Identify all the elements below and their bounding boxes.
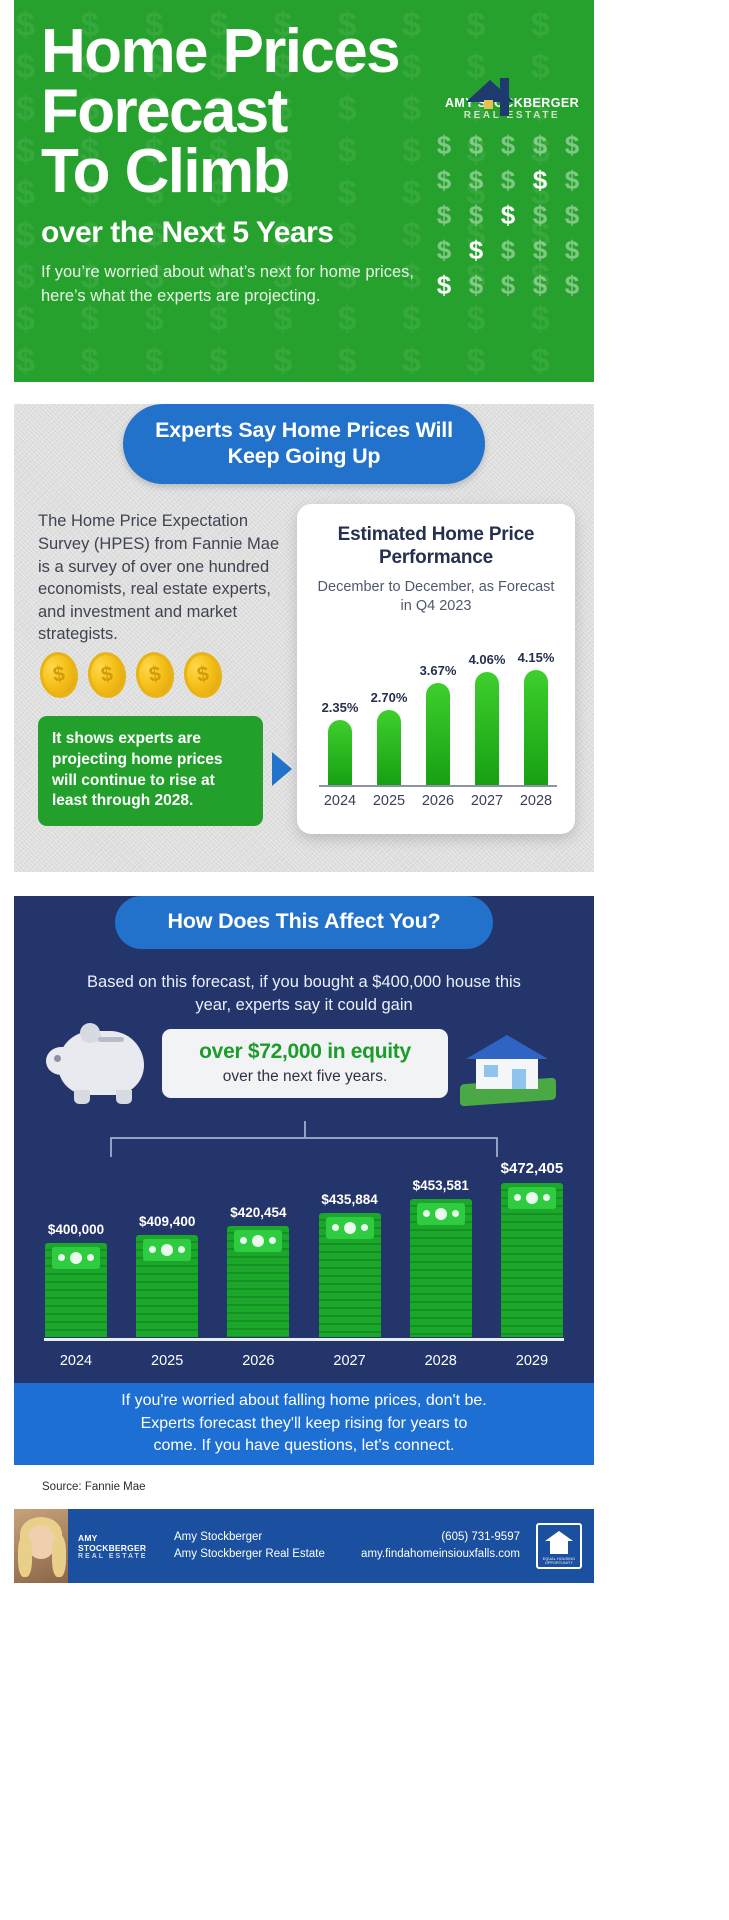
survey-headline-pill: Experts Say Home Prices Will Keep Going … [123, 404, 485, 484]
avatar-hair-right [52, 1535, 66, 1577]
equity-timeframe: over the next five years. [172, 1068, 438, 1086]
equity-bar [410, 1199, 472, 1337]
equity-bar-column: $472,405 [500, 1160, 564, 1337]
eho-body [550, 1541, 568, 1554]
dollar-bill-icon [326, 1217, 374, 1239]
chart-subtitle: December to December, as Forecast in Q4 … [311, 578, 561, 616]
equity-bar-column: $453,581 [409, 1178, 473, 1337]
equity-x-label: 2027 [318, 1353, 382, 1369]
chart-x-label: 2024 [321, 793, 359, 809]
header-section: $ $ $ $ $ $ $ $ $ $ $ $ $ $ $ $ $ $ $ $ … [14, 0, 594, 382]
footer-brand-logo: AMY STOCKBERGER REAL ESTATE [68, 1533, 160, 1560]
headline-subtitle: over the Next 5 Years [41, 216, 594, 249]
piggy-leg [74, 1090, 90, 1104]
piggy-bank-icon [58, 1031, 144, 1095]
equity-bar-column: $435,884 [318, 1192, 382, 1337]
footer-website[interactable]: amy.findahomeinsiouxfalls.com [361, 1546, 520, 1563]
chart-bar-value-label: 2.70% [371, 690, 408, 705]
coin-icon [37, 650, 81, 701]
cta-line-3: come. If you have questions, let's conne… [153, 1437, 454, 1454]
dollar-bill-icon [508, 1187, 556, 1209]
equity-bar-value-label: $400,000 [48, 1222, 104, 1237]
chart-bar [328, 720, 352, 785]
equity-chart-x-labels: 202420252026202720282029 [44, 1353, 564, 1369]
equity-bar [45, 1243, 107, 1337]
equity-x-label: 2025 [135, 1353, 199, 1369]
coin-icon [181, 650, 225, 701]
source-text: Source: Fannie Mae [14, 1481, 146, 1493]
equity-bar-column: $420,454 [226, 1205, 290, 1337]
chart-x-axis [319, 785, 557, 787]
chart-bar-value-label: 4.06% [469, 652, 506, 667]
dollar-bill-icon [52, 1247, 100, 1269]
chart-plot-area: 2.35%2.70%3.67%4.06%4.15% 20242025202620… [311, 632, 561, 807]
chart-bar-value-label: 4.15% [518, 650, 555, 665]
house-window [484, 1065, 498, 1077]
house-door [512, 1069, 526, 1089]
equity-chart-axis [44, 1338, 564, 1341]
logo-accent-icon [484, 100, 493, 109]
chart-bar-column: 3.67% [419, 663, 457, 785]
cta-line-2: Experts forecast they'll keep rising for… [141, 1415, 468, 1432]
equity-headline-pill: How Does This Affect You? [115, 896, 493, 949]
chart-bar [377, 710, 401, 785]
equity-bar-column: $400,000 [44, 1222, 108, 1337]
chart-bar-value-label: 2.35% [322, 700, 359, 715]
equity-x-label: 2028 [409, 1353, 473, 1369]
coin-icon [85, 650, 129, 701]
bracket-stem [304, 1121, 306, 1137]
equity-chart: $400,000$409,400$420,454$435,884$453,581… [44, 1161, 564, 1371]
chart-bar [524, 670, 548, 785]
eho-label: EQUAL HOUSING OPPORTUNITY [538, 1557, 580, 1565]
chart-title: Estimated Home Price Performance [311, 524, 561, 570]
equity-amount: over $72,000 in equity [172, 1040, 438, 1064]
chart-x-tick-labels: 20242025202620272028 [321, 793, 555, 809]
cta-band: If you're worried about falling home pri… [14, 1383, 594, 1465]
headline-line-1: Home Prices [41, 22, 594, 82]
footer-contact-block: (605) 731-9597 amy.findahomeinsiouxfalls… [361, 1529, 536, 1564]
dollar-bill-icon [143, 1239, 191, 1261]
chart-bar [426, 683, 450, 785]
chart-x-label: 2026 [419, 793, 457, 809]
connector-bracket [40, 1121, 568, 1157]
chart-bar [475, 672, 499, 785]
coin-stack-illustration [40, 652, 222, 698]
chart-bar-column: 2.35% [321, 700, 359, 785]
piggy-slot [98, 1037, 124, 1042]
equity-bar-value-label: $472,405 [501, 1160, 564, 1177]
equity-bar-value-label: $420,454 [230, 1205, 286, 1220]
equal-housing-opportunity-icon: EQUAL HOUSING OPPORTUNITY [536, 1523, 582, 1569]
bracket-left-tick [110, 1137, 112, 1157]
equity-bar [136, 1235, 198, 1337]
chart-bar-column: 2.70% [370, 690, 408, 785]
footer-phone[interactable]: (605) 731-9597 [361, 1529, 520, 1546]
cta-text: If you're worried about falling home pri… [121, 1390, 486, 1457]
footer-agent-block: Amy Stockberger Amy Stockberger Real Est… [160, 1529, 325, 1564]
chart-bar-value-label: 3.67% [420, 663, 457, 678]
survey-callout-box: It shows experts are projecting home pri… [38, 716, 263, 825]
bracket-right-tick [496, 1137, 498, 1157]
equity-section: How Does This Affect You? Based on this … [14, 896, 594, 1383]
equity-x-label: 2026 [226, 1353, 290, 1369]
eho-roof [545, 1531, 573, 1541]
piggy-leg [116, 1090, 132, 1104]
header-brand-logo: AMY STOCKBERGER REAL ESTATE [438, 96, 586, 142]
equity-bar-value-label: $453,581 [413, 1178, 469, 1193]
dollar-bill-icon [417, 1203, 465, 1225]
source-row: Source: Fannie Mae [14, 1465, 594, 1509]
survey-section: Experts Say Home Prices Will Keep Going … [14, 404, 594, 872]
house-roof [466, 1035, 548, 1059]
chart-bar-column: 4.06% [468, 652, 506, 785]
equity-bar-column: $409,400 [135, 1214, 199, 1337]
chart-x-label: 2028 [517, 793, 555, 809]
chart-bar-column: 4.15% [517, 650, 555, 785]
bracket-line [110, 1137, 498, 1139]
footer-agent-name: Amy Stockberger [174, 1529, 325, 1546]
equity-highlight-row: over $72,000 in equity over the next fiv… [14, 1029, 594, 1115]
logo-post-icon [500, 78, 509, 116]
footer-brand-name: AMY STOCKBERGER [78, 1533, 160, 1553]
chart-bars: 2.35%2.70%3.67%4.06%4.15% [321, 635, 555, 785]
equity-bar [319, 1213, 381, 1337]
headline-line-3: To Climb [41, 142, 594, 202]
coin-icon [133, 650, 177, 701]
equity-bar [227, 1226, 289, 1337]
equity-x-label: 2029 [500, 1353, 564, 1369]
agent-avatar [14, 1509, 68, 1583]
equity-bar-value-label: $409,400 [139, 1214, 195, 1229]
forecast-chart-card: Estimated Home Price Performance Decembe… [297, 504, 575, 834]
arrow-right-icon [272, 752, 292, 786]
equity-lead-text: Based on this forecast, if you bought a … [84, 971, 524, 1017]
equity-bar-value-label: $435,884 [321, 1192, 377, 1207]
cta-line-1: If you're worried about falling home pri… [121, 1392, 486, 1409]
chart-x-label: 2025 [370, 793, 408, 809]
avatar-hair-left [18, 1535, 32, 1577]
chart-x-label: 2027 [468, 793, 506, 809]
equity-bar [501, 1183, 563, 1337]
equity-x-label: 2024 [44, 1353, 108, 1369]
footer-company-name: Amy Stockberger Real Estate [174, 1546, 325, 1563]
footer-brand-tagline: REAL ESTATE [78, 1553, 160, 1560]
brand-tagline: REAL ESTATE [438, 110, 586, 121]
footer-bar: AMY STOCKBERGER REAL ESTATE Amy Stockber… [14, 1509, 594, 1583]
house-illustration-icon [460, 1029, 556, 1103]
infographic-canvas: $ $ $ $ $ $ $ $ $ $ $ $ $ $ $ $ $ $ $ $ … [14, 0, 594, 1920]
equity-value-box: over $72,000 in equity over the next fiv… [162, 1029, 448, 1098]
survey-paragraph: The Home Price Expectation Survey (HPES)… [38, 510, 293, 646]
equity-chart-bars: $400,000$409,400$420,454$435,884$453,581… [44, 1161, 564, 1337]
header-body-text: If you’re worried about what’s next for … [41, 261, 436, 308]
dollar-bill-icon [234, 1230, 282, 1252]
header-text-block: Home Prices Forecast To Climb over the N… [14, 0, 594, 308]
infographic-page: $ $ $ $ $ $ $ $ $ $ $ $ $ $ $ $ $ $ $ $ … [0, 0, 729, 1920]
